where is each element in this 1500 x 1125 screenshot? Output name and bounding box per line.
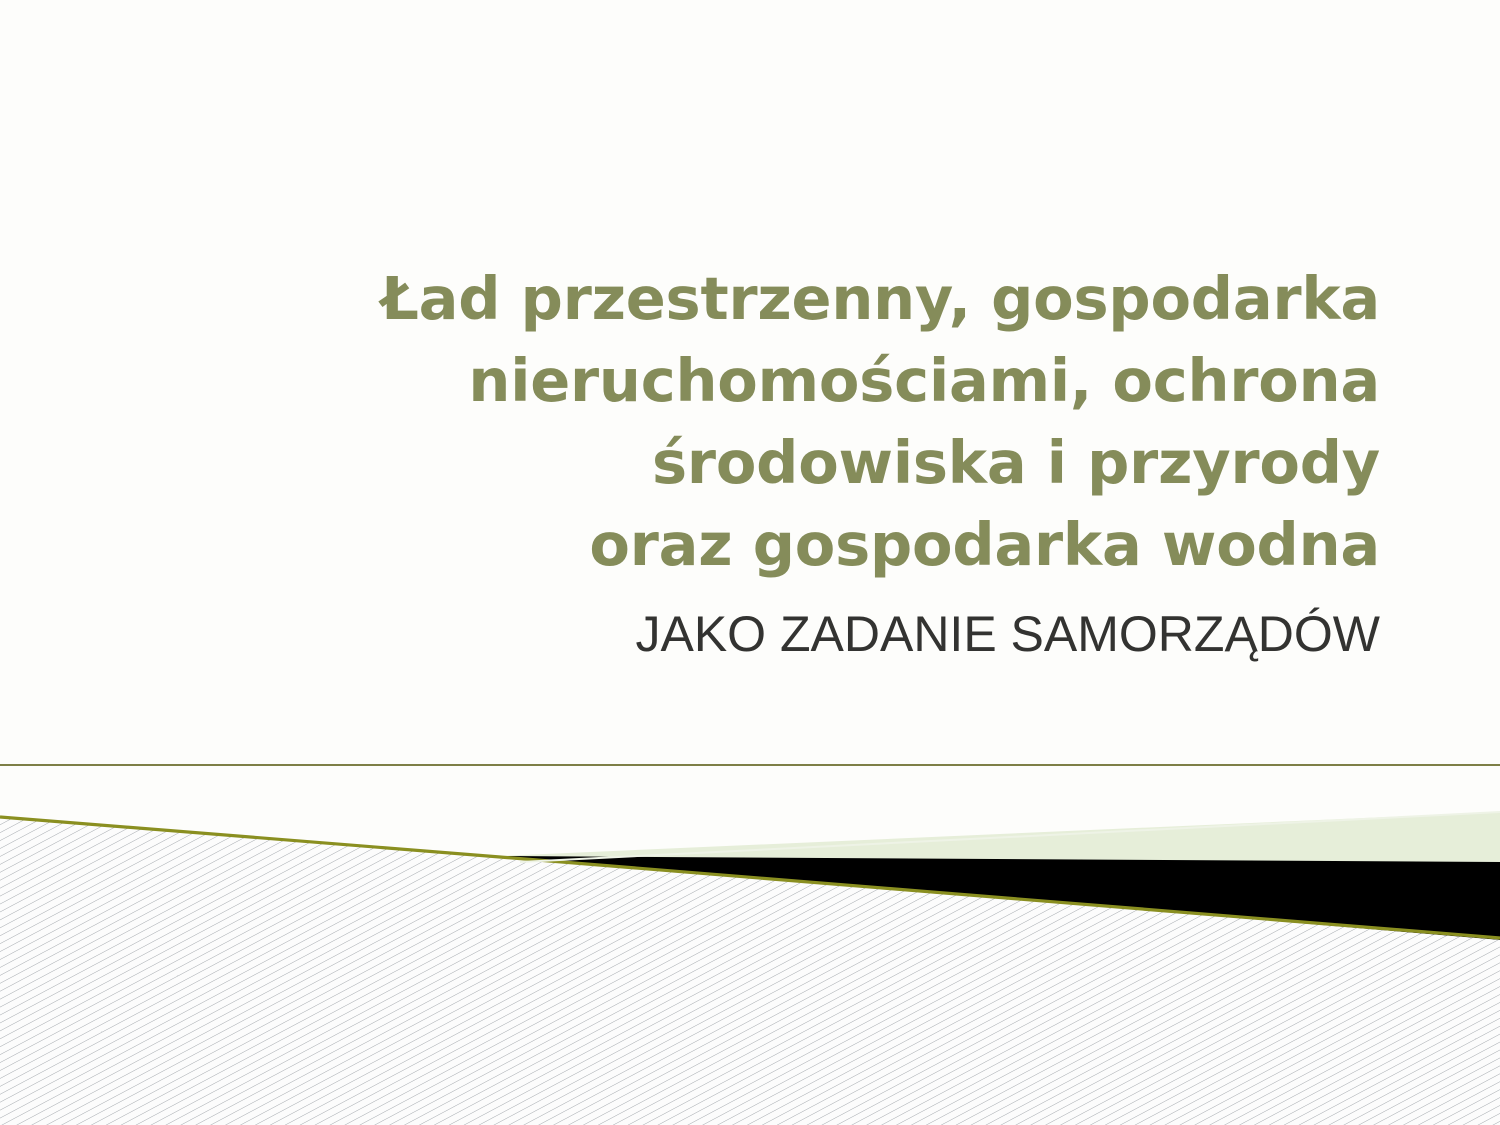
title-line-4: oraz gospodarka wodna — [150, 504, 1380, 586]
black-diagonal-wedge — [498, 856, 1500, 940]
title-line-2: nieruchomościami, ochrona — [150, 340, 1380, 422]
slide-title: Ład przestrzenny, gospodarka nieruchomoś… — [150, 258, 1380, 586]
light-green-band — [500, 812, 1500, 862]
slide-subtitle: JAKO ZADANIE SAMORZĄDÓW — [150, 602, 1380, 666]
title-line-1: Ład przestrzenny, gospodarka — [150, 258, 1380, 340]
horizontal-rule — [0, 764, 1500, 766]
diagonal-hatch-field — [0, 780, 1500, 1125]
subtitle-text: JAKO ZADANIE SAMORZĄDÓW — [150, 602, 1380, 666]
olive-accent-line — [0, 817, 1500, 938]
presentation-slide: Ład przestrzenny, gospodarka nieruchomoś… — [0, 0, 1500, 1125]
title-line-3: środowiska i przyrody — [150, 422, 1380, 504]
green-band-top-edge — [520, 812, 1500, 862]
